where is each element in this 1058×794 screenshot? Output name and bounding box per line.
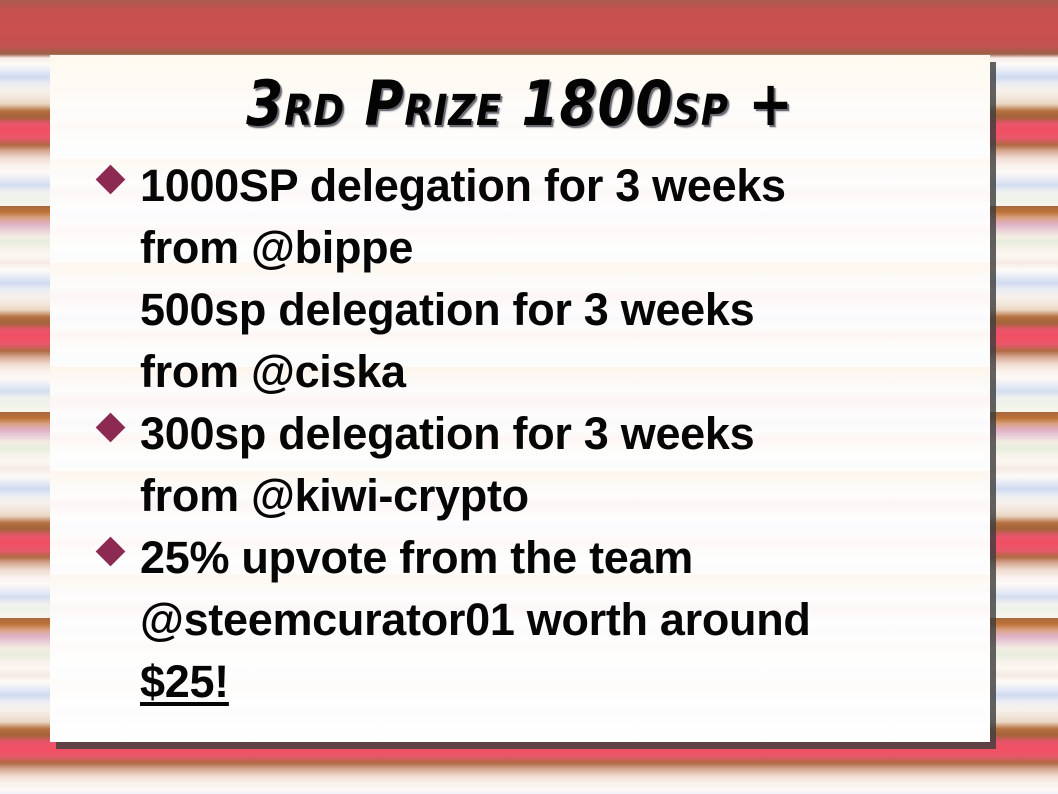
diamond-bullet [96,537,126,567]
list-item-line: 1000SP delegation for 3 weeks [140,155,974,217]
prize-list: 1000SP delegation for 3 weeksfrom @bippe… [94,155,974,713]
diamond-bullet [96,165,126,195]
list-item: 25% upvote from the team@steemcurator01 … [94,527,974,713]
list-item-line: $25! [140,651,974,713]
list-item-line: 500sp delegation for 3 weeks [140,279,974,341]
list-item: 1000SP delegation for 3 weeksfrom @bippe… [94,155,974,403]
list-item-line: @steemcurator01 worth around [140,589,974,651]
list-item: 300sp delegation for 3 weeksfrom @kiwi-c… [94,403,974,527]
list-item-line: from @kiwi-crypto [140,465,974,527]
list-item-line: from @ciska [140,341,974,403]
card-content: 3rd Prize 1800sp + 1000SP delegation for… [50,55,990,742]
content-card: 3rd Prize 1800sp + 1000SP delegation for… [50,55,990,742]
list-item-line: from @bippe [140,217,974,279]
slide-canvas: 3rd Prize 1800sp + 1000SP delegation for… [0,0,1058,794]
list-item-line: 25% upvote from the team [140,527,974,589]
page-title: 3rd Prize 1800sp + [116,67,924,140]
diamond-bullet [96,413,126,443]
list-item-line: 300sp delegation for 3 weeks [140,403,974,465]
